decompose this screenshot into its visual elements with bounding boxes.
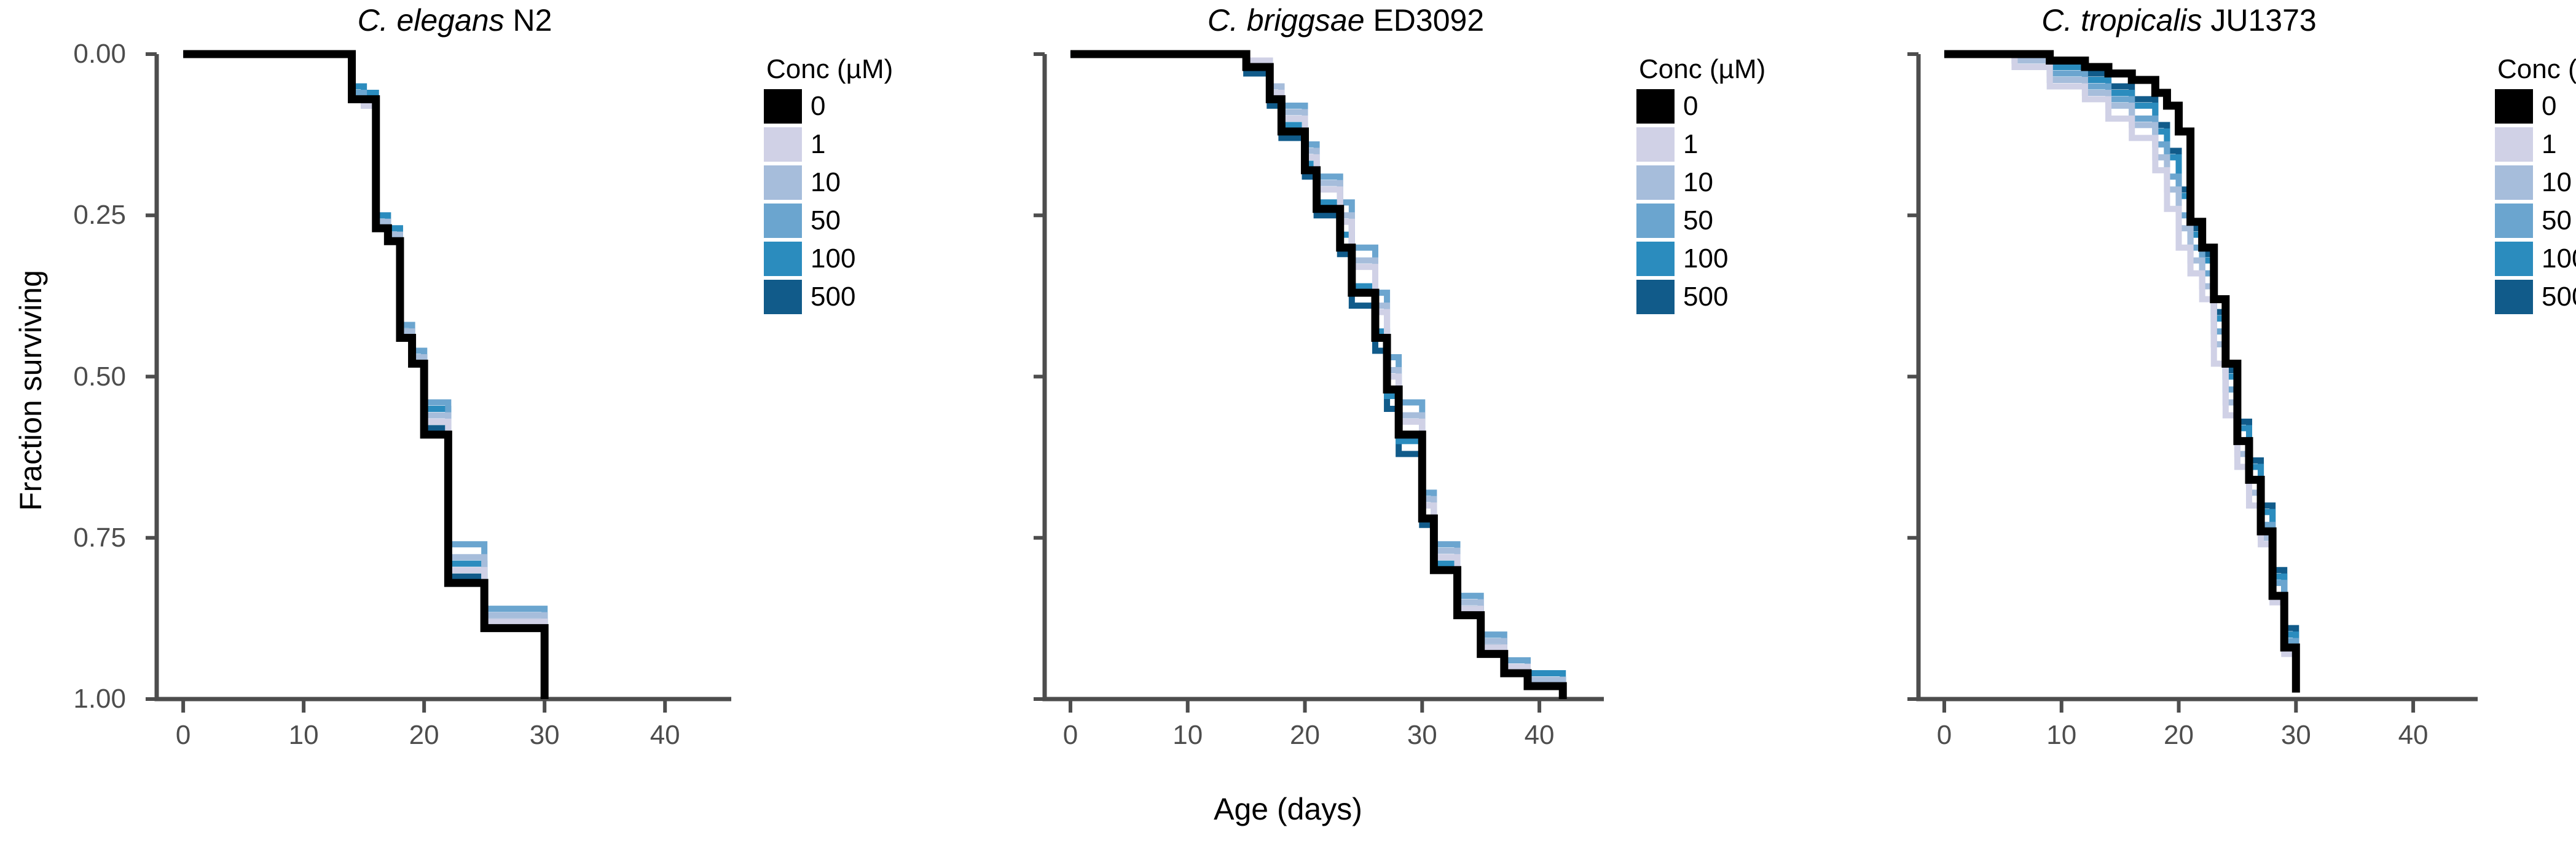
legend-0: Conc (µM)011050100500 [764, 54, 893, 316]
legend-item[interactable]: 50 [1636, 202, 1765, 240]
legend-swatch [764, 165, 802, 200]
panel-strain: N2 [513, 3, 552, 38]
legend-item[interactable]: 500 [2495, 278, 2576, 316]
survival-curve [1070, 54, 1563, 699]
survival-curve [183, 54, 544, 699]
panel-species: C. briggsae [1207, 3, 1365, 38]
legend-label: 0 [811, 91, 825, 122]
legend-label: 0 [2542, 91, 2556, 122]
survival-curve [1944, 54, 2296, 693]
legend-item[interactable]: 100 [1636, 240, 1765, 278]
survival-curve [183, 54, 544, 699]
plot-area-2 [1918, 54, 2478, 699]
legend-2: Conc (µM)011050100500 [2495, 54, 2576, 316]
legend-label: 1 [2542, 129, 2556, 160]
legend-label: 50 [1683, 205, 1713, 236]
legend-swatch [2495, 204, 2533, 238]
plot-area-0 [157, 54, 731, 699]
legend-swatch [764, 242, 802, 276]
legend-title: Conc (µM) [1636, 54, 1765, 85]
legend-label: 50 [811, 205, 841, 236]
legend-swatch [764, 89, 802, 124]
legend-item[interactable]: 50 [764, 202, 893, 240]
legend-swatch [2495, 280, 2533, 314]
legend-1: Conc (µM)011050100500 [1636, 54, 1765, 316]
legend-title: Conc (µM) [764, 54, 893, 85]
legend-label: 10 [2542, 167, 2572, 198]
axis-lines [1918, 54, 2478, 699]
legend-swatch [1636, 89, 1675, 124]
legend-item[interactable]: 50 [2495, 202, 2576, 240]
y-tick-label: 0.75 [28, 524, 126, 552]
legend-label: 500 [2542, 282, 2576, 312]
legend-label: 100 [2542, 243, 2576, 274]
legend-label: 10 [1683, 167, 1713, 198]
legend-swatch [2495, 127, 2533, 162]
panel-strain: JU1373 [2210, 3, 2316, 38]
survival-curve [183, 54, 544, 699]
survival-curve [1944, 54, 2296, 693]
survival-figure: Fraction surviving Age (days) C. elegans… [0, 0, 2576, 846]
y-tick-label: 1.00 [28, 685, 126, 713]
legend-item[interactable]: 1 [2495, 125, 2576, 164]
legend-item[interactable]: 500 [764, 278, 893, 316]
legend-item[interactable]: 0 [764, 87, 893, 125]
legend-swatch [1636, 280, 1675, 314]
y-tick-label: 0.25 [28, 201, 126, 229]
legend-title: Conc (µM) [2495, 54, 2576, 85]
panel-title: C. briggsae ED3092 [909, 2, 1782, 38]
legend-label: 0 [1683, 91, 1698, 122]
legend-swatch [1636, 165, 1675, 200]
legend-item[interactable]: 0 [2495, 87, 2576, 125]
survival-curve [183, 54, 544, 699]
legend-swatch [1636, 127, 1675, 162]
legend-label: 10 [811, 167, 841, 198]
survival-curve [183, 54, 544, 699]
legend-swatch [1636, 204, 1675, 238]
legend-swatch [2495, 165, 2533, 200]
legend-swatch [764, 127, 802, 162]
plot-area-1 [1045, 54, 1604, 699]
legend-item[interactable]: 1 [764, 125, 893, 164]
legend-swatch [2495, 242, 2533, 276]
survival-curve [1944, 54, 2296, 686]
y-tick-label: 0.50 [28, 363, 126, 391]
legend-item[interactable]: 0 [1636, 87, 1765, 125]
panel-title: C. elegans N2 [0, 2, 909, 38]
panel-strain: ED3092 [1373, 3, 1484, 38]
legend-item[interactable]: 1 [1636, 125, 1765, 164]
survival-curve [1944, 54, 2296, 693]
legend-label: 50 [2542, 205, 2572, 236]
legend-swatch [2495, 89, 2533, 124]
legend-swatch [1636, 242, 1675, 276]
legend-label: 500 [811, 282, 855, 312]
panel-title: C. tropicalis JU1373 [1782, 2, 2576, 38]
panel-species: C. elegans [358, 3, 505, 38]
y-tick-label: 0.00 [28, 40, 126, 68]
legend-swatch [764, 204, 802, 238]
legend-item[interactable]: 10 [1636, 164, 1765, 202]
legend-item[interactable]: 10 [764, 164, 893, 202]
survival-curve [183, 54, 544, 699]
legend-swatch [764, 280, 802, 314]
axis-lines [157, 54, 731, 699]
legend-item[interactable]: 10 [2495, 164, 2576, 202]
legend-item[interactable]: 100 [764, 240, 893, 278]
legend-item[interactable]: 500 [1636, 278, 1765, 316]
survival-curve [1944, 54, 2296, 686]
legend-label: 1 [811, 129, 825, 160]
legend-label: 100 [811, 243, 855, 274]
survival-curve [1944, 54, 2296, 686]
panel-species: C. tropicalis [2041, 3, 2202, 38]
axis-lines [1045, 54, 1604, 699]
legend-item[interactable]: 100 [2495, 240, 2576, 278]
legend-label: 1 [1683, 129, 1698, 160]
legend-label: 100 [1683, 243, 1728, 274]
legend-label: 500 [1683, 282, 1728, 312]
